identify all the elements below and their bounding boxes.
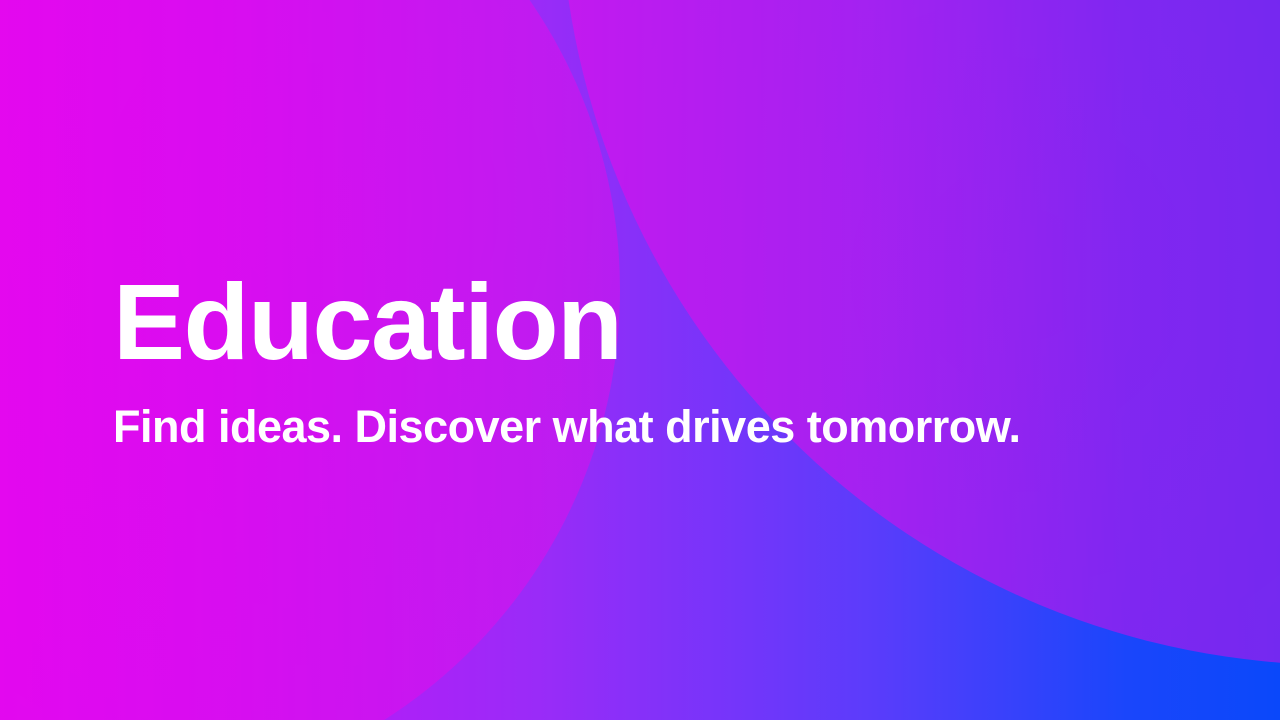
page-subtitle: Find ideas. Discover what drives tomorro… <box>113 402 1173 452</box>
hero-slide: Education Find ideas. Discover what driv… <box>0 0 1280 720</box>
hero-text-block: Education Find ideas. Discover what driv… <box>113 0 1173 720</box>
page-title: Education <box>113 268 1173 376</box>
